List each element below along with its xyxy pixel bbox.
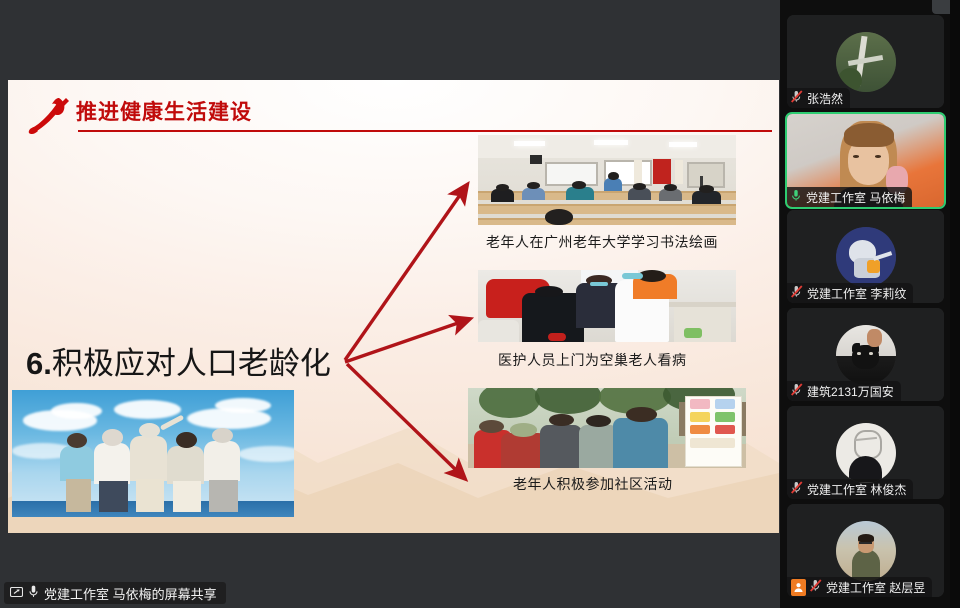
photo-classroom-caption: 老年人在广州老年大学学习书法绘画 [486, 232, 718, 252]
participant-tile-zhaocengyu[interactable]: 党建工作室 赵层昱 [787, 504, 944, 597]
filmstrip-top-nub [932, 0, 950, 14]
photo-elderly-sky [12, 390, 294, 517]
mic-active-icon [791, 189, 802, 205]
mic-muted-icon [791, 285, 803, 301]
slide-headline: 6.积极应对人口老龄化 [26, 338, 331, 383]
title-underline [78, 130, 772, 132]
participant-name-plate: 张浩然 [787, 88, 850, 108]
photo-community-caption: 老年人积极参加社区活动 [513, 474, 673, 494]
participant-tile-wanguoan[interactable]: 建筑2131万国安 [787, 308, 944, 401]
photo-classroom [478, 135, 736, 225]
microphone-icon [29, 585, 38, 601]
participant-tile-mayimei[interactable]: 党建工作室 马依梅 [785, 112, 946, 209]
headline-text: 积极应对人口老龄化 [52, 346, 331, 382]
mic-muted-icon [810, 579, 822, 595]
participant-name: 党建工作室 李莉纹 [807, 285, 906, 302]
avatar [836, 423, 896, 483]
host-badge-icon [791, 579, 806, 596]
participant-name-plate: 建筑2131万国安 [787, 381, 901, 401]
participant-filmstrip[interactable]: 张浩然 党建工作室 马依梅 [780, 0, 960, 608]
participant-name-plate: 党建工作室 林俊杰 [787, 479, 913, 499]
screen-share-icon [10, 586, 23, 601]
screen-share-label-text: 党建工作室 马依梅的屏幕共享 [44, 584, 217, 603]
participant-name-plate: 党建工作室 马依梅 [787, 187, 912, 207]
participant-name: 建筑2131万国安 [807, 383, 894, 400]
participant-tile-linjunjie[interactable]: 党建工作室 林俊杰 [787, 406, 944, 499]
participant-name-plate: 党建工作室 赵层昱 [787, 577, 932, 597]
participant-name: 党建工作室 马依梅 [806, 189, 905, 206]
participant-tile-zhanghaoran[interactable]: 张浩然 [787, 15, 944, 108]
mic-muted-icon [791, 90, 803, 106]
presentation-slide: 推进健康生活建设 6.积极应对人口老龄化 [8, 80, 779, 533]
photo-home-visit [478, 270, 736, 342]
slide-title: 推进健康生活建设 [76, 96, 252, 126]
meeting-window: 推进健康生活建设 6.积极应对人口老龄化 [0, 0, 960, 608]
photo-community [468, 388, 746, 468]
headline-number: 6. [26, 346, 52, 381]
avatar [836, 227, 896, 287]
participant-name: 党建工作室 林俊杰 [807, 481, 906, 498]
participant-name-plate: 党建工作室 李莉纹 [787, 283, 913, 303]
filmstrip-scrollbar[interactable] [950, 0, 960, 608]
avatar [836, 521, 896, 581]
participant-tile-lilinwen[interactable]: 党建工作室 李莉纹 [787, 210, 944, 303]
photo-home-visit-caption: 医护人员上门为空巢老人看病 [498, 350, 687, 370]
party-emblem-icon [26, 94, 72, 136]
avatar [836, 32, 896, 92]
screen-share-label: 党建工作室 马依梅的屏幕共享 [4, 582, 226, 604]
participant-name: 张浩然 [807, 90, 843, 107]
avatar [836, 325, 896, 385]
mic-muted-icon [791, 481, 803, 497]
participant-name: 党建工作室 赵层昱 [826, 579, 925, 596]
shared-screen-stage[interactable]: 推进健康生活建设 6.积极应对人口老龄化 [0, 0, 780, 608]
mic-muted-icon [791, 383, 803, 399]
